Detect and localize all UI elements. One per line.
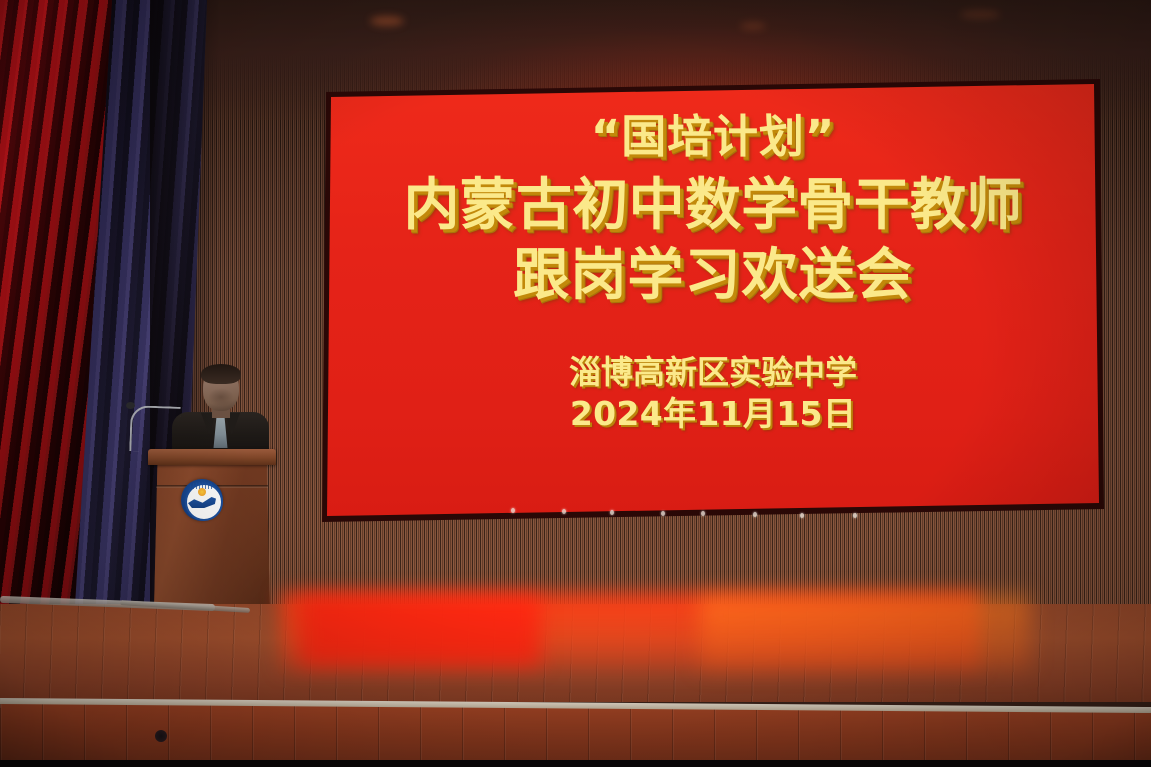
ceiling-reflection-2 [740,22,766,30]
screen-mount-bolt [853,513,857,518]
podium-desktop [148,449,276,465]
screen-mount-bolt [753,512,757,517]
led-screen[interactable]: “国培计划” 内蒙古初中数学骨干教师 跟岗学习欢送会 淄博高新区实验中学 202… [322,79,1104,522]
slide-title-line-3: 跟岗学习欢送会 [513,246,913,306]
stage-floor-orange-glow [700,596,1030,670]
microphone-gooseneck [129,405,181,453]
screen-mount-bolt [562,509,566,514]
microphone-capsule-icon [126,402,135,409]
image-bottom-border [0,760,1151,767]
screen-mount-bolt [610,510,614,515]
speaker-face-shadow [208,388,234,406]
screen-mount-bolt [800,513,804,518]
slide-title-line-2: 内蒙古初中数学骨干教师 [403,176,1022,236]
podium [148,449,276,625]
screen-mount-bolt [701,511,705,516]
led-screen-bezel: “国培计划” 内蒙古初中数学骨干教师 跟岗学习欢送会 淄博高新区实验中学 202… [322,79,1104,522]
slide-subtitle-school: 淄博高新区实验中学 [569,355,857,391]
crest-sun-icon [198,488,206,496]
speaker-person [168,366,273,458]
speaker-hair [201,364,241,384]
slide-subtitle-date: 2024年11月15日 [570,396,856,433]
screen-mount-bolt [511,508,515,513]
stage-front-panel [0,704,1151,767]
stage-floor-hotspot [300,596,540,666]
auditorium-photo: “国培计划” 内蒙古初中数学骨干教师 跟岗学习欢送会 淄博高新区实验中学 202… [0,0,1151,767]
ceiling-reflection-1 [370,16,404,26]
slide-title-line-1: “国培计划” [591,113,836,162]
school-crest-icon [181,479,223,521]
stage-vent-icon [155,730,167,742]
screen-mount-bolt [661,511,665,516]
ceiling-reflection-3 [960,10,1000,19]
